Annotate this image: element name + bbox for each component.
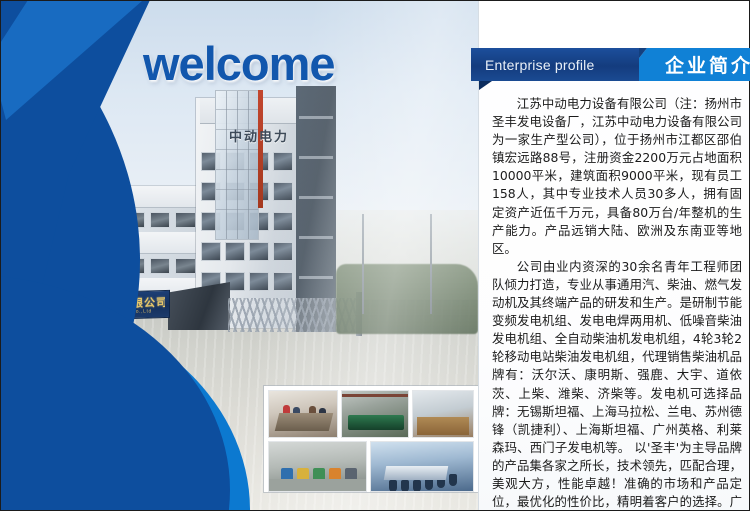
glass-stair-tower: [215, 90, 259, 240]
generator-workshop-photo: [341, 390, 409, 438]
left-hero-panel: 中动电力 江苏中动电力设备有限公司 Jiangsu Zhongdong Powe…: [0, 0, 478, 511]
banner-title-english: Enterprise profile: [471, 48, 639, 81]
profile-text-panel: 企业简介 Enterprise profile 江苏中动电力设备有限公司（注：扬…: [478, 0, 750, 511]
company-profile-body: 江苏中动电力设备有限公司（注：扬州市圣丰发电设备厂，江苏中动电力设备有限公司为一…: [492, 95, 742, 511]
profile-paragraph-1: 江苏中动电力设备有限公司（注：扬州市圣丰发电设备厂，江苏中动电力设备有限公司为一…: [492, 95, 742, 258]
light-pole: [430, 214, 432, 314]
meeting-room-photo: [268, 390, 338, 438]
rooftop-company-sign: 中动电力: [229, 126, 289, 145]
assembly-workshop-photo: [268, 441, 367, 492]
office-area-photo: [412, 390, 474, 438]
company-photo-grid: [264, 386, 478, 492]
boardroom-photo: [370, 441, 474, 492]
welcome-heading: welcome: [143, 36, 335, 91]
building-side-tower: [296, 86, 336, 332]
company-profile-page: 中动电力 江苏中动电力设备有限公司 Jiangsu Zhongdong Powe…: [0, 0, 750, 511]
profile-paragraph-2: 公司由业内资深的30余名青年工程师团队倾力打造，专业从事通用汽、柴油、燃气发动机…: [492, 258, 742, 511]
hedge-greenery: [336, 264, 478, 334]
section-banner: 企业简介 Enterprise profile: [471, 48, 750, 81]
facade-accent-stripe: [258, 90, 263, 208]
light-pole: [362, 214, 364, 314]
banner-tail-notch: [479, 81, 492, 90]
